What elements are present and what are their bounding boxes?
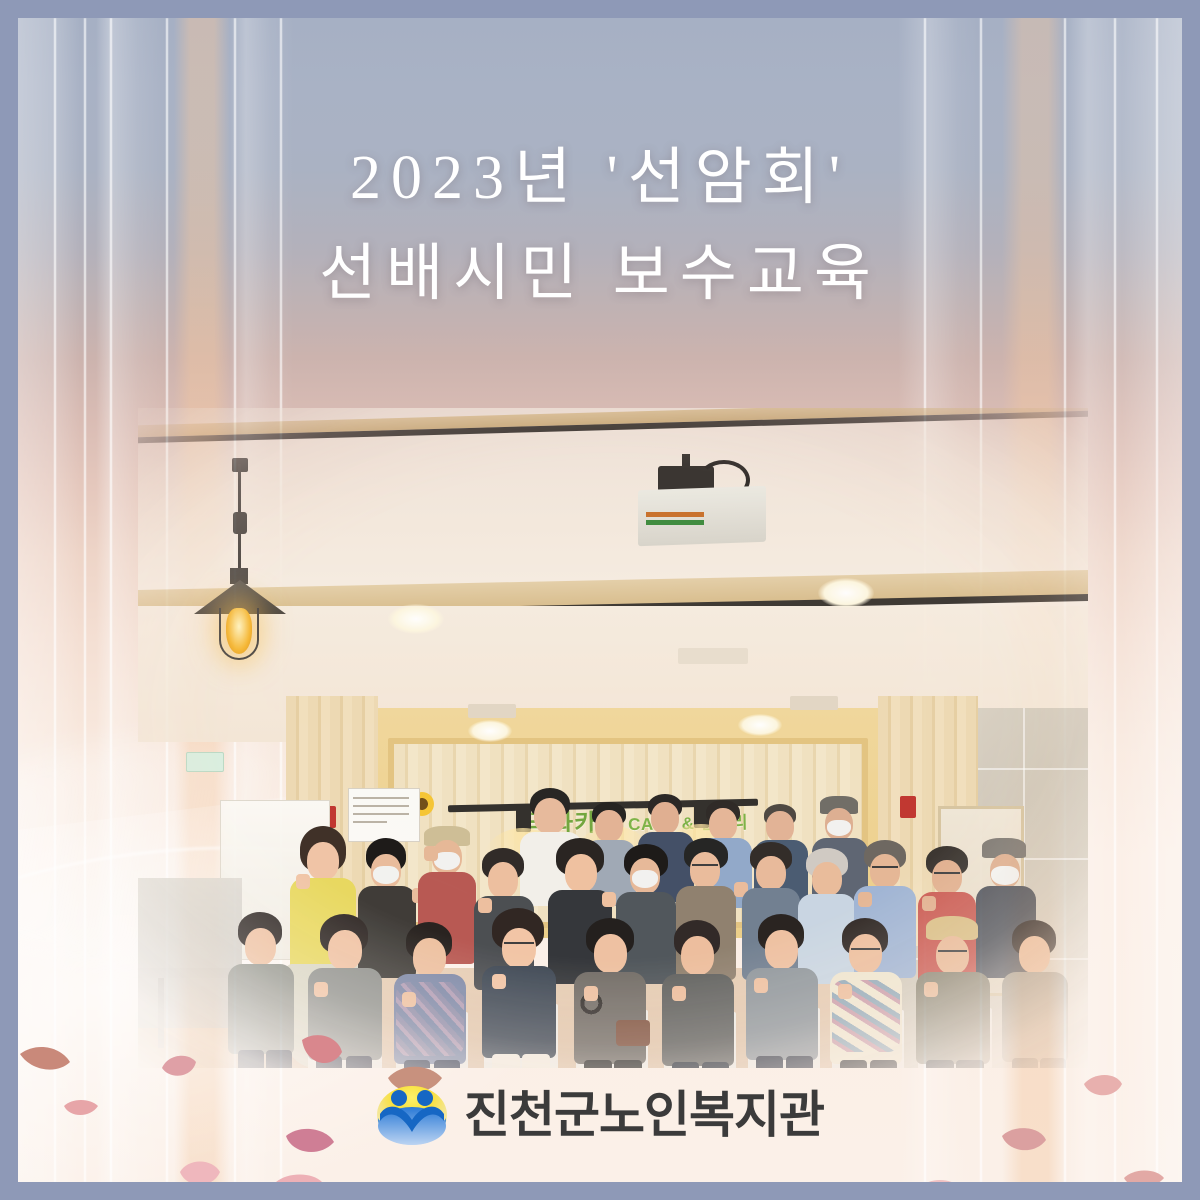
photo-ceiling-vent — [468, 704, 516, 718]
photo-table-leg — [158, 978, 164, 1048]
flower-petal — [1122, 1166, 1166, 1182]
photo-downlight — [388, 604, 444, 634]
flower-petal — [294, 1030, 348, 1074]
photo-ceiling-vent — [790, 696, 838, 710]
poster-card: 국화카페 CAFE & 갤러리 — [0, 0, 1200, 1200]
flower-petal — [18, 1038, 74, 1078]
event-group-photo: 국화카페 CAFE & 갤러리 — [138, 408, 1088, 1068]
photo-fire-alarm — [900, 796, 916, 818]
photo-exit-sign — [186, 752, 224, 772]
page-title: 2023년 '선암회' 선배시민 보수교육 — [18, 130, 1182, 322]
organization-name: 진천군노인복지관 — [464, 1090, 824, 1140]
photo-downlight — [738, 714, 782, 736]
photo-lamp-knot — [233, 512, 247, 534]
organization-logo: 진천군노인복지관 — [18, 1084, 1182, 1146]
flower-petal — [920, 1176, 960, 1182]
photo-projector-cable-orange — [646, 512, 704, 517]
photo-cabinet — [138, 878, 242, 1028]
two-people-emblem-icon — [376, 1084, 448, 1146]
flower-petal — [176, 1156, 224, 1182]
photo-downlight — [818, 578, 874, 608]
photo-lamp-cage — [219, 608, 259, 660]
photo-projector-cable-green — [646, 520, 704, 525]
flower-petal — [274, 1170, 324, 1182]
photo-notice-board — [348, 788, 420, 842]
photo-ceiling-vent — [678, 648, 748, 664]
flower-petal — [158, 1050, 200, 1082]
poster-canvas: 국화카페 CAFE & 갤러리 — [18, 18, 1182, 1182]
photo-downlight — [468, 720, 512, 742]
